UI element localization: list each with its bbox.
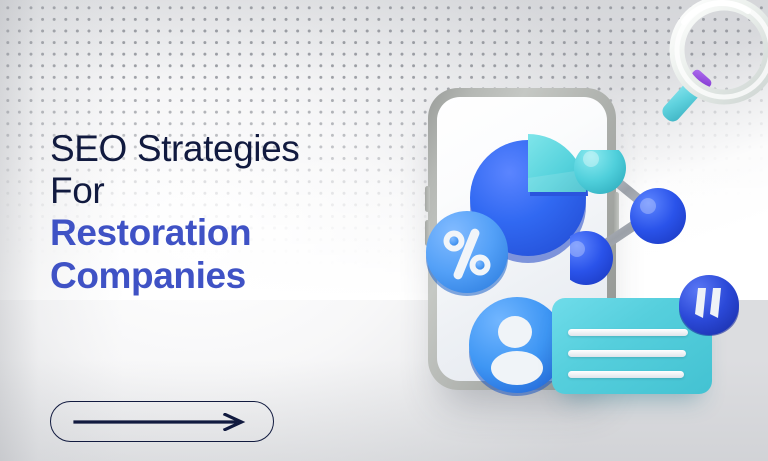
arrow-right-icon (73, 413, 251, 431)
network-nodes-icon (570, 150, 720, 290)
magnifier-icon (652, 0, 768, 152)
cta-arrow-button[interactable] (50, 401, 274, 442)
card-line-1 (568, 329, 688, 336)
headline-line-2: For (50, 170, 420, 212)
phone-volume-up-button (425, 186, 430, 212)
seo-analytics-3d-illustration (400, 0, 768, 461)
headline-line-3: Restoration (50, 212, 420, 254)
card-line-2 (568, 350, 686, 357)
headline-block: SEO Strategies For Restoration Companies (50, 128, 420, 297)
seo-hero-banner: SEO Strategies For Restoration Companies (0, 0, 768, 461)
quote-badge-icon (678, 274, 740, 336)
headline-line-1: SEO Strategies (50, 128, 420, 170)
page-title: SEO Strategies For Restoration Companies (50, 128, 420, 297)
percent-badge-icon (425, 210, 511, 296)
headline-line-4: Companies (50, 255, 420, 297)
card-line-3 (568, 371, 684, 378)
